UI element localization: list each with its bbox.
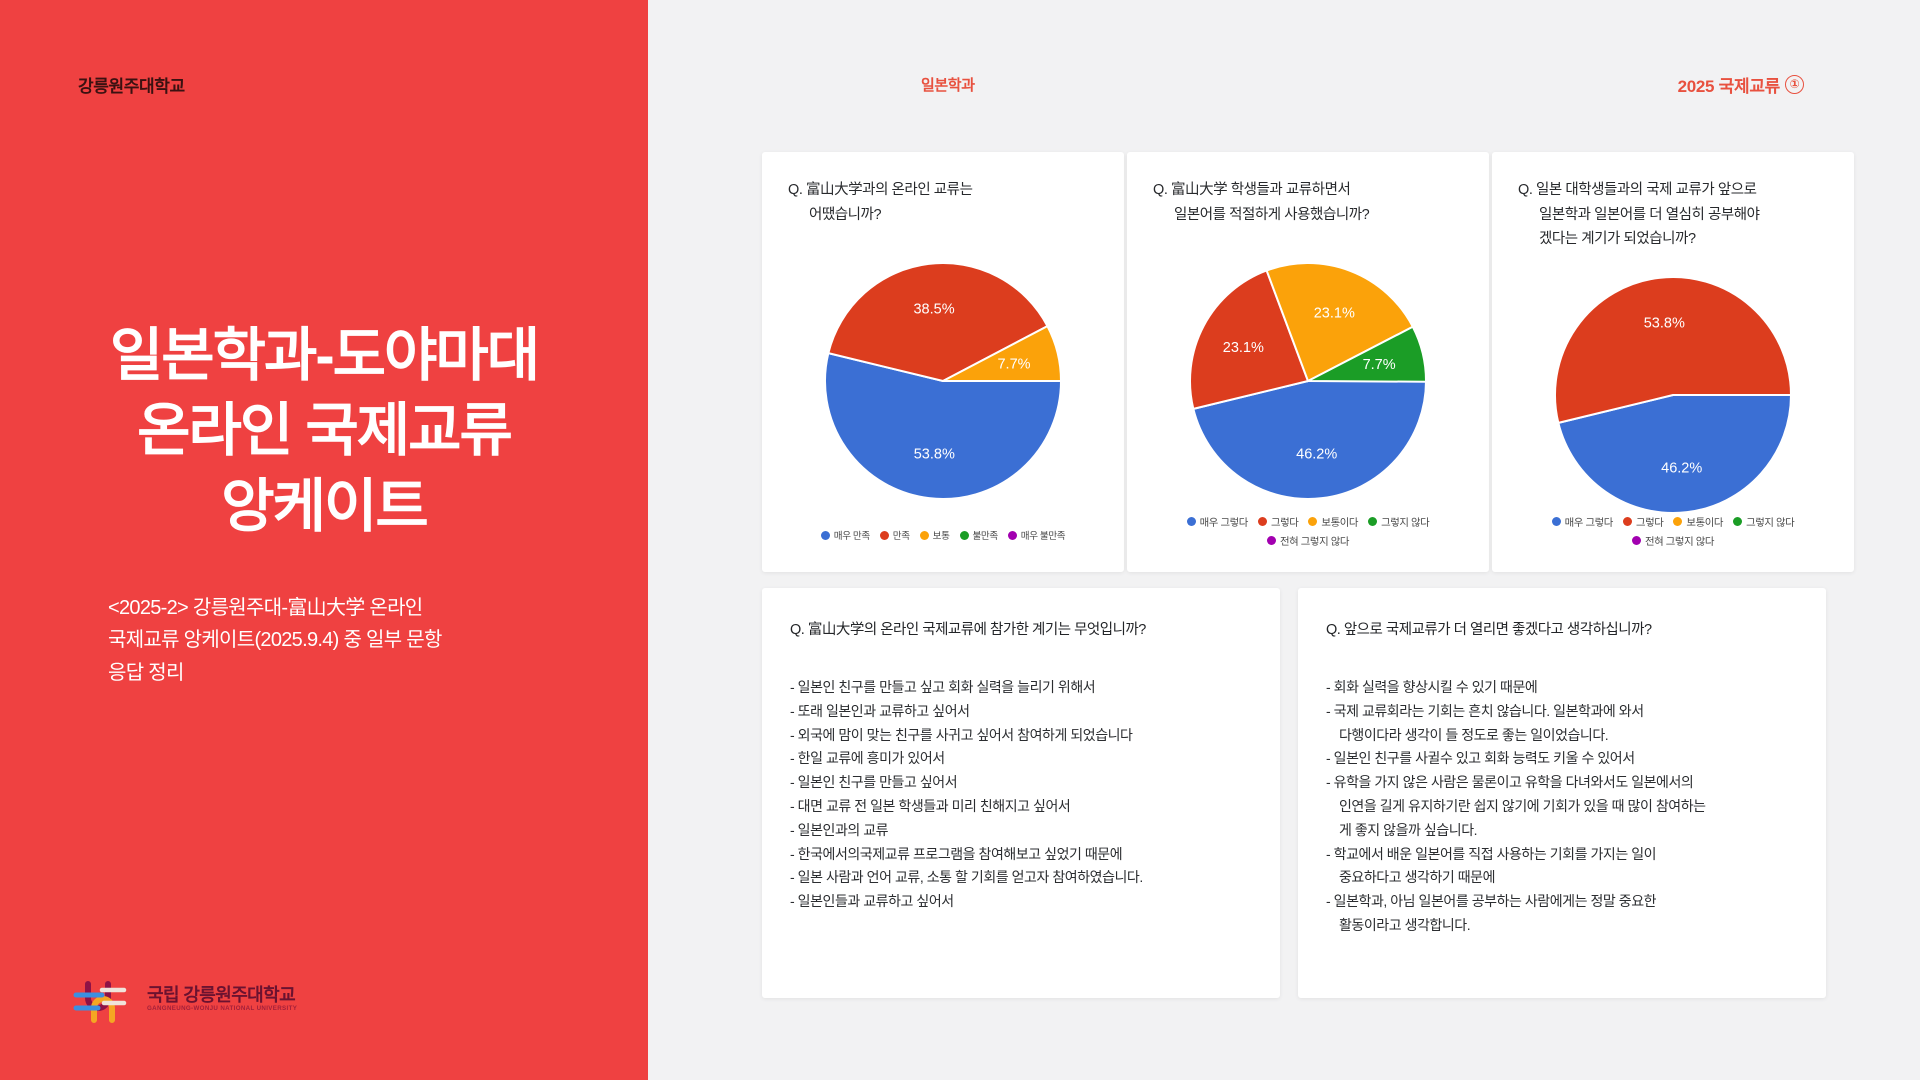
page-subtitle: <2025-2> 강릉원주대-富山大学 온라인국제교류 앙케이트(2025.9.… [108, 592, 608, 689]
chart-question-line: 어땠습니까? [788, 203, 1106, 228]
legend-color-dot-icon [1187, 517, 1196, 526]
logo-symbol-icon [72, 968, 134, 1030]
legend-item-전혀 그렇지 않다[interactable]: 전혀 그렇지 않다 [1632, 533, 1714, 548]
legend-label: 보통 [933, 528, 950, 542]
legend-color-dot-icon [960, 531, 969, 540]
pie-slice-label: 7.7% [1363, 357, 1396, 373]
answer-line: - 대면 교류 전 일본 학생들과 미리 친해지고 싶어서 [790, 795, 1262, 819]
page-title-line-2: 온라인 국제교류 [0, 393, 648, 468]
answer-line: 활동이라고 생각합니다. [1326, 914, 1808, 938]
page-subtitle-line-1: <2025-2> 강릉원주대-富山大学 온라인 [108, 592, 608, 624]
pie-chart-1: 53.8%38.5%7.7% [762, 256, 1124, 506]
chart-question-3: Q. 일본 대학생들과의 국제 교류가 앞으로일본학과 일본어를 더 열심히 공… [1518, 178, 1836, 252]
page-subtitle-line-3: 응답 정리 [108, 657, 608, 689]
legend-label: 보통이다 [1686, 514, 1723, 529]
legend-item-그렇지 않다[interactable]: 그렇지 않다 [1368, 514, 1429, 529]
answer-line: - 외국에 맘이 맞는 친구를 사귀고 싶어서 참여하게 되었습니다 [790, 724, 1262, 748]
legend-label: 매우 불만족 [1021, 528, 1065, 542]
legend-item-불만족[interactable]: 불만족 [960, 528, 998, 542]
content-area: 일본학과 2025 국제교류 ① Q. 富山大学과의 온라인 교류는어땠습니까?… [648, 0, 1920, 1080]
page-title-line-1: 일본학과-도야마대 [0, 318, 648, 393]
legend-label: 보통이다 [1321, 514, 1358, 529]
answer-line: - 일본인 친구를 만들고 싶고 회화 실력을 늘리기 위해서 [790, 676, 1262, 700]
answers-question-1: Q. 富山大学의 온라인 국제교류에 참가한 계기는 무엇입니까? [790, 620, 1260, 642]
legend-color-dot-icon [880, 531, 889, 540]
pie-slice-label: 53.8% [1644, 315, 1685, 331]
answers-card-2[interactable]: Q. 앞으로 국제교류가 더 열리면 좋겠다고 생각하십니까?- 회화 실력을 … [1298, 588, 1826, 998]
answer-line: - 일본인들과 교류하고 싶어서 [790, 890, 1262, 914]
chart-card-3[interactable]: Q. 일본 대학생들과의 국제 교류가 앞으로일본학과 일본어를 더 열심히 공… [1492, 152, 1854, 572]
pie-slice-label: 23.1% [1223, 340, 1264, 356]
legend-item-전혀 그렇지 않다[interactable]: 전혀 그렇지 않다 [1267, 533, 1349, 548]
university-logo: 국립 강릉원주대학교 GANGNEUNG-WONJU NATIONAL UNIV… [72, 968, 297, 1030]
answer-line: - 국제 교류회라는 기회는 흔치 않습니다. 일본학과에 와서 [1326, 700, 1808, 724]
answer-line: - 한국에서의국제교류 프로그램을 참여해보고 싶었기 때문에 [790, 843, 1262, 867]
legend-label: 전혀 그렇지 않다 [1280, 533, 1349, 548]
answers-card-1[interactable]: Q. 富山大学의 온라인 국제교류에 참가한 계기는 무엇입니까?- 일본인 친… [762, 588, 1280, 998]
header-series: 2025 국제교류 ① [1678, 72, 1804, 97]
legend-item-그렇다[interactable]: 그렇다 [1258, 514, 1298, 529]
chart-question-1: Q. 富山大学과의 온라인 교류는어땠습니까? [788, 178, 1106, 227]
page-title-line-3: 앙케이트 [0, 469, 648, 544]
answer-line: - 또래 일본인과 교류하고 싶어서 [790, 700, 1262, 724]
chart-question-line: Q. 일본 대학생들과의 국제 교류가 앞으로 [1518, 178, 1836, 203]
legend-label: 그렇지 않다 [1746, 514, 1794, 529]
legend-color-dot-icon [1623, 517, 1632, 526]
answers-list-1: - 일본인 친구를 만들고 싶고 회화 실력을 늘리기 위해서- 또래 일본인과… [790, 676, 1262, 914]
legend-item-매우 불만족[interactable]: 매우 불만족 [1008, 528, 1065, 542]
header-series-label: 2025 국제교류 [1678, 72, 1780, 97]
pie-chart-2: 46.2%23.1%23.1%7.7% [1127, 256, 1489, 506]
legend-item-매우 그렇다[interactable]: 매우 그렇다 [1552, 514, 1613, 529]
university-name-top: 강릉원주대학교 [78, 72, 185, 97]
legend-color-dot-icon [1368, 517, 1377, 526]
legend-label: 매우 만족 [834, 528, 870, 542]
chart-question-2: Q. 富山大学 학생들과 교류하면서일본어를 적절하게 사용했습니까? [1153, 178, 1471, 227]
chart-card-1[interactable]: Q. 富山大学과의 온라인 교류는어땠습니까?53.8%38.5%7.7%매우 … [762, 152, 1124, 572]
legend-label: 매우 그렇다 [1200, 514, 1248, 529]
legend-color-dot-icon [1267, 536, 1276, 545]
answer-line: 인연을 길게 유지하기란 쉽지 않기에 기회가 있을 때 많이 참여하는 [1326, 795, 1808, 819]
legend-color-dot-icon [1552, 517, 1561, 526]
header-department: 일본학과 [921, 74, 975, 95]
chart-question-line: Q. 富山大学 학생들과 교류하면서 [1153, 178, 1471, 203]
answers-list-2: - 회화 실력을 향상시킬 수 있기 때문에- 국제 교류회라는 기회는 흔치 … [1326, 676, 1808, 938]
answer-line: - 한일 교류에 흥미가 있어서 [790, 747, 1262, 771]
chart-legend-3: 매우 그렇다그렇다보통이다그렇지 않다전혀 그렇지 않다 [1528, 514, 1818, 548]
legend-item-보통이다[interactable]: 보통이다 [1673, 514, 1723, 529]
answer-line: - 유학을 가지 않은 사람은 물론이고 유학을 다녀와서도 일본에서의 [1326, 771, 1808, 795]
legend-color-dot-icon [821, 531, 830, 540]
pie-slice-label: 46.2% [1296, 447, 1337, 463]
answer-line: - 일본학과, 아님 일본어를 공부하는 사람에게는 정말 중요한 [1326, 890, 1808, 914]
legend-color-dot-icon [1308, 517, 1317, 526]
legend-color-dot-icon [920, 531, 929, 540]
answers-question-2: Q. 앞으로 국제교류가 더 열리면 좋겠다고 생각하십니까? [1326, 620, 1806, 642]
answer-line: - 일본 사람과 언어 교류, 소통 할 기회를 얻고자 참여하였습니다. [790, 866, 1262, 890]
chart-question-line: 일본어를 적절하게 사용했습니까? [1153, 203, 1471, 228]
legend-label: 전혀 그렇지 않다 [1645, 533, 1714, 548]
legend-item-그렇다[interactable]: 그렇다 [1623, 514, 1663, 529]
answer-line: - 일본인과의 교류 [790, 819, 1262, 843]
header-series-number-icon: ① [1785, 75, 1804, 94]
answer-line: - 일본인 친구를 사귈수 있고 회화 능력도 키울 수 있어서 [1326, 747, 1808, 771]
legend-item-그렇지 않다[interactable]: 그렇지 않다 [1733, 514, 1794, 529]
pie-slice-label: 38.5% [913, 301, 954, 317]
legend-item-보통이다[interactable]: 보통이다 [1308, 514, 1358, 529]
answer-line: - 회화 실력을 향상시킬 수 있기 때문에 [1326, 676, 1808, 700]
page-subtitle-line-2: 국제교류 앙케이트(2025.9.4) 중 일부 문항 [108, 624, 608, 656]
chart-card-2[interactable]: Q. 富山大学 학생들과 교류하면서일본어를 적절하게 사용했습니까?46.2%… [1127, 152, 1489, 572]
pie-slice-label: 7.7% [997, 356, 1030, 372]
left-title-panel: 강릉원주대학교 일본학과-도야마대온라인 국제교류앙케이트 <2025-2> 강… [0, 0, 648, 1080]
answer-line: - 일본인 친구를 만들고 싶어서 [790, 771, 1262, 795]
legend-color-dot-icon [1258, 517, 1267, 526]
logo-korean-text: 국립 강릉원주대학교 [147, 986, 297, 1004]
slide-root: 강릉원주대학교 일본학과-도야마대온라인 국제교류앙케이트 <2025-2> 강… [0, 0, 1920, 1080]
legend-label: 매우 그렇다 [1565, 514, 1613, 529]
legend-color-dot-icon [1632, 536, 1641, 545]
pie-chart-3: 46.2%53.8% [1492, 270, 1854, 520]
chart-legend-1: 매우 만족만족보통불만족매우 불만족 [776, 528, 1110, 542]
legend-color-dot-icon [1673, 517, 1682, 526]
legend-item-매우 그렇다[interactable]: 매우 그렇다 [1187, 514, 1248, 529]
legend-label: 그렇다 [1271, 514, 1298, 529]
legend-item-보통[interactable]: 보통 [920, 528, 950, 542]
answer-line: - 학교에서 배운 일본어를 직접 사용하는 기회를 가지는 일이 [1326, 843, 1808, 867]
legend-label: 만족 [893, 528, 910, 542]
answer-line: 다행이다라 생각이 들 정도로 좋는 일이었습니다. [1326, 724, 1808, 748]
chart-question-line: Q. 富山大学과의 온라인 교류는 [788, 178, 1106, 203]
pie-slice-label: 53.8% [914, 447, 955, 463]
legend-label: 그렇다 [1636, 514, 1663, 529]
chart-question-line: 겠다는 계기가 되었습니까? [1518, 227, 1836, 252]
legend-label: 그렇지 않다 [1381, 514, 1429, 529]
legend-label: 불만족 [973, 528, 998, 542]
logo-english-text: GANGNEUNG-WONJU NATIONAL UNIVERSITY [147, 1006, 297, 1012]
chart-legend-2: 매우 그렇다그렇다보통이다그렇지 않다전혀 그렇지 않다 [1163, 514, 1453, 548]
page-title: 일본학과-도야마대온라인 국제교류앙케이트 [0, 318, 648, 544]
pie-slice-label: 23.1% [1314, 306, 1355, 322]
pie-slice-label: 46.2% [1661, 461, 1702, 477]
legend-color-dot-icon [1008, 531, 1017, 540]
answer-line: 중요하다고 생각하기 때문에 [1326, 866, 1808, 890]
answer-line: 게 좋지 않을까 싶습니다. [1326, 819, 1808, 843]
legend-color-dot-icon [1733, 517, 1742, 526]
legend-item-만족[interactable]: 만족 [880, 528, 910, 542]
legend-item-매우 만족[interactable]: 매우 만족 [821, 528, 870, 542]
chart-question-line: 일본학과 일본어를 더 열심히 공부해야 [1518, 203, 1836, 228]
